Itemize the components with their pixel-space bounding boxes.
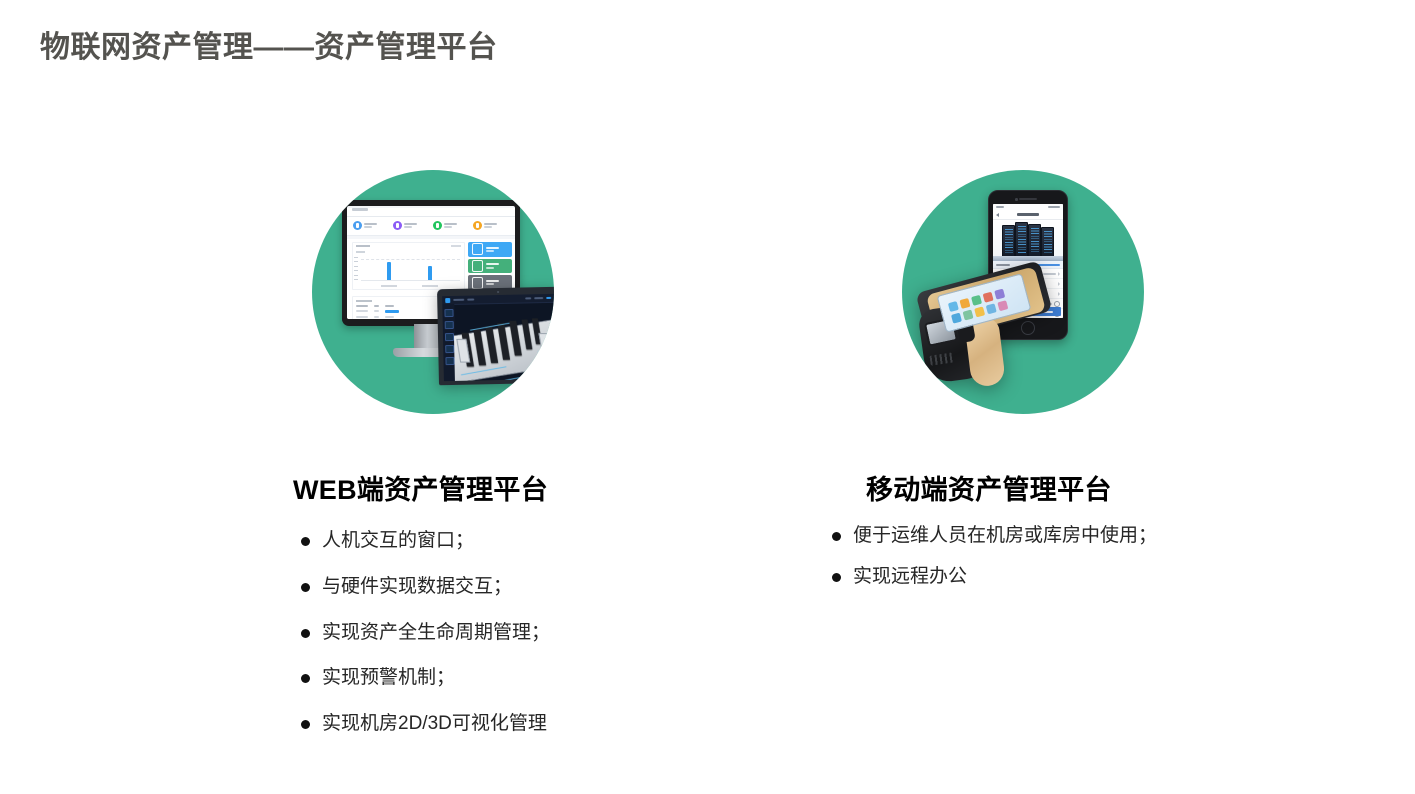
app-icon[interactable] xyxy=(983,292,994,303)
list-item-label: 便于运维人员在机房或库房中使用； xyxy=(853,524,1157,548)
toolbar-item[interactable] xyxy=(525,297,531,299)
app-icon[interactable] xyxy=(948,301,959,312)
chart-bar xyxy=(428,266,432,280)
tile-label xyxy=(486,263,499,269)
app-icon[interactable] xyxy=(963,310,974,321)
web-platform-heading: WEB端资产管理平台 xyxy=(293,468,710,507)
dashboard-quick-tiles xyxy=(468,242,512,290)
server-rack-image xyxy=(1028,224,1041,257)
app-logo-icon xyxy=(445,298,450,303)
list-item: 实现资产全生命周期管理； xyxy=(290,621,710,645)
tile-icon xyxy=(472,260,483,272)
tile-icon xyxy=(472,243,483,255)
badge-clip xyxy=(312,170,554,414)
back-arrow-icon[interactable] xyxy=(996,213,999,217)
server-rack-image xyxy=(1015,222,1028,257)
table-title xyxy=(356,300,372,302)
list-item-label: 人机交互的窗口； xyxy=(322,529,474,553)
chart-bar xyxy=(387,262,391,280)
chart-x-tick-label xyxy=(381,285,397,287)
stat-icon-orange xyxy=(473,221,482,230)
sidebar-tool-icon[interactable] xyxy=(444,309,453,317)
slide-root: { "slide": { "title": "物联网资产管理——资产管理平台",… xyxy=(0,0,1415,794)
monitoring-display xyxy=(538,351,551,360)
stat-text xyxy=(484,223,497,229)
list-item-label: 实现机房2D/3D可视化管理 xyxy=(322,712,547,736)
chart-subtitle xyxy=(356,251,365,253)
bullet-dot-icon xyxy=(301,629,310,638)
bullet-dot-icon xyxy=(832,573,841,582)
app-icon[interactable] xyxy=(951,313,962,324)
laptop-camera-icon xyxy=(497,291,499,293)
rfid-handheld-scanner-icon xyxy=(910,262,1060,392)
bullet-dot-icon xyxy=(301,537,310,546)
datacenter-3d-view xyxy=(453,303,554,381)
chart-legend xyxy=(451,245,461,247)
mobile-platform-image-badge xyxy=(902,170,1144,414)
toolbar-item[interactable] xyxy=(534,297,543,299)
stat-icon-blue xyxy=(353,221,362,230)
stat-icon-green xyxy=(433,221,442,230)
list-item-label: 实现预警机制； xyxy=(322,666,455,690)
dashboard-stat-row xyxy=(347,217,515,236)
quick-tile-blue[interactable] xyxy=(468,242,512,257)
app-icon[interactable] xyxy=(974,306,985,317)
status-carrier-text xyxy=(996,206,1004,208)
chart-title xyxy=(356,245,370,247)
stat-icon-purple xyxy=(393,221,402,230)
laptop-icon xyxy=(437,287,554,386)
stat-card xyxy=(353,221,391,230)
photo-floor xyxy=(993,256,1063,261)
app-icon[interactable] xyxy=(994,289,1005,300)
mobile-platform-bullet-list: 便于运维人员在机房或库房中使用； 实现远程办公 xyxy=(830,524,1290,589)
phone-camera-icon xyxy=(1015,198,1018,201)
web-platform-bullet-list: 人机交互的窗口； 与硬件实现数据交互； 实现资产全生命周期管理； 实现预警机制；… xyxy=(290,529,710,736)
stat-text xyxy=(444,223,457,229)
tile-label xyxy=(486,247,499,253)
app-icon[interactable] xyxy=(959,298,970,309)
scanner-app-grid xyxy=(948,289,1008,324)
column-mobile-platform: 移动端资产管理平台 便于运维人员在机房或库房中使用； 实现远程办公 xyxy=(830,170,1290,589)
stat-text xyxy=(364,223,377,229)
bullet-dot-icon xyxy=(832,532,841,541)
chart-gridline xyxy=(361,259,460,260)
bullet-dot-icon xyxy=(301,674,310,683)
phone-screen-title xyxy=(1017,213,1039,216)
phone-speaker-icon xyxy=(1019,198,1037,200)
dashboard-topbar xyxy=(347,208,515,217)
tile-label xyxy=(486,280,499,286)
sidebar-tool-icon[interactable] xyxy=(445,345,454,353)
mobile-platform-heading: 移动端资产管理平台 xyxy=(866,468,1290,507)
stat-card xyxy=(433,221,471,230)
chart-x-tick-label xyxy=(422,285,438,287)
sidebar-tool-icon[interactable] xyxy=(444,333,453,341)
app-name-text xyxy=(453,299,464,301)
list-item: 实现预警机制； xyxy=(290,666,710,690)
tile-icon xyxy=(472,277,483,289)
badge-clip xyxy=(902,170,1144,414)
sidebar-tool-icon[interactable] xyxy=(445,357,454,365)
dashboard-chart-zone xyxy=(347,239,515,293)
server-rack-image xyxy=(1041,227,1054,257)
bullet-dot-icon xyxy=(301,583,310,592)
laptop-screen xyxy=(442,294,554,381)
server-rack-image xyxy=(1002,225,1015,257)
phone-nav-bar xyxy=(993,210,1063,220)
stat-card xyxy=(393,221,431,230)
stat-text xyxy=(404,223,417,229)
list-item-label: 与硬件实现数据交互； xyxy=(322,575,512,599)
bar-chart-panel xyxy=(352,242,465,290)
quick-tile-green[interactable] xyxy=(468,259,512,274)
chart-plot-area xyxy=(361,257,460,281)
sidebar-tool-icon[interactable] xyxy=(444,321,453,329)
app-icon[interactable] xyxy=(986,303,997,314)
toolbar-item-active[interactable] xyxy=(546,297,551,299)
list-item: 便于运维人员在机房或库房中使用； xyxy=(830,524,1290,548)
list-item-label: 实现资产全生命周期管理； xyxy=(322,621,550,645)
asset-photo xyxy=(993,220,1063,261)
status-battery-icon xyxy=(1048,206,1060,208)
app-icon[interactable] xyxy=(997,300,1008,311)
list-item: 实现远程办公 xyxy=(830,565,1290,589)
stat-card xyxy=(473,221,511,230)
laptop-body xyxy=(437,287,554,386)
app-icon[interactable] xyxy=(971,295,982,306)
list-item: 人机交互的窗口； xyxy=(290,529,710,553)
chart-y-axis xyxy=(354,257,358,280)
bullet-dot-icon xyxy=(301,720,310,729)
page-title: 物联网资产管理——资产管理平台 xyxy=(40,22,498,66)
list-item: 与硬件实现数据交互； xyxy=(290,575,710,599)
web-platform-image-badge xyxy=(312,170,554,414)
list-item: 实现机房2D/3D可视化管理 xyxy=(290,712,710,736)
app-section-text xyxy=(467,299,474,301)
column-web-platform: WEB端资产管理平台 人机交互的窗口； 与硬件实现数据交互； 实现资产全生命周期… xyxy=(290,170,710,736)
list-item-label: 实现远程办公 xyxy=(853,565,967,589)
